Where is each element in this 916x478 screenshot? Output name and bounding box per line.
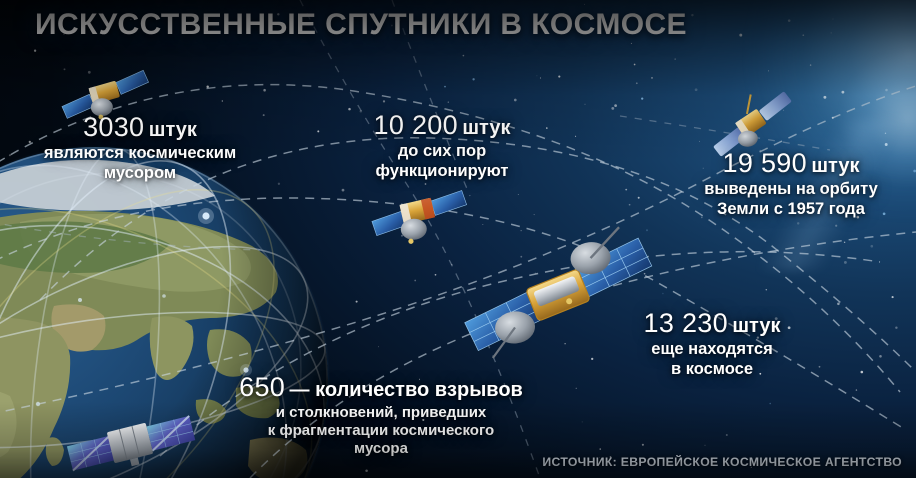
infographic-canvas: ИСКУССТВЕННЫЕ СПУТНИКИ В КОСМОСЕ 3030 шт… xyxy=(0,0,916,478)
bottom-vignette xyxy=(0,0,916,478)
